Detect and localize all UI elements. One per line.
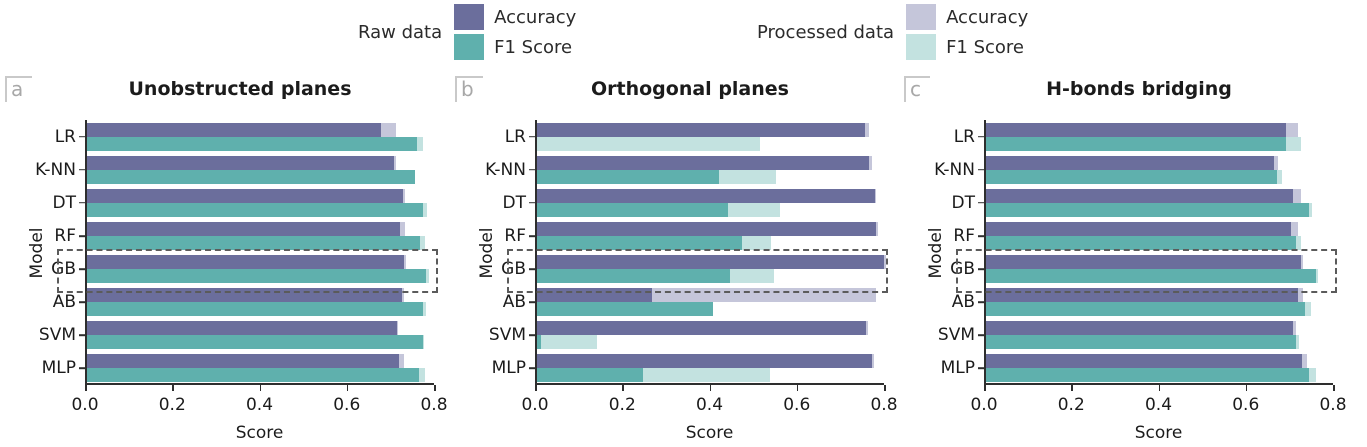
x-tick-label: 0.2	[609, 395, 636, 415]
bar-raw-accuracy-k-nn	[87, 156, 394, 170]
y-tick-label-mlp: MLP	[492, 358, 526, 378]
y-tick-label-k-nn: K-NN	[35, 160, 76, 180]
bar-raw-f1-dt	[986, 203, 1309, 217]
legend-group-raw-data: Raw data Accuracy F1 Score	[358, 4, 576, 60]
bar-raw-accuracy-gb	[986, 255, 1301, 269]
legend-keys-processed: Accuracy F1 Score	[906, 4, 1028, 60]
bar-raw-accuracy-rf	[537, 222, 876, 236]
bar-raw-accuracy-dt	[537, 189, 875, 203]
bar-raw-accuracy-mlp	[87, 354, 399, 368]
legend-item-raw-f1[interactable]: F1 Score	[454, 34, 576, 60]
y-tick-label-rf: RF	[504, 226, 526, 246]
y-tick-label-svm: SVM	[39, 325, 76, 345]
y-tick-label-lr: LR	[954, 127, 975, 147]
panel-tag-c: c	[904, 76, 930, 102]
bar-raw-f1-ab	[537, 302, 714, 316]
bar-raw-f1-k-nn	[986, 170, 1277, 184]
x-tick-mark	[1246, 385, 1248, 391]
bar-raw-f1-k-nn	[537, 170, 719, 184]
x-tick-label: 0.6	[1232, 395, 1259, 415]
panel-tag-a: a	[5, 76, 32, 102]
y-tick-label-rf: RF	[953, 226, 975, 246]
bar-raw-f1-mlp	[986, 368, 1309, 382]
x-tick-mark	[535, 385, 537, 391]
bar-raw-f1-gb	[986, 269, 1316, 283]
bar-raw-f1-mlp	[87, 368, 419, 382]
legend-item-processed-accuracy[interactable]: Accuracy	[906, 4, 1028, 30]
bar-processed-f1-svm	[537, 335, 597, 349]
bar-raw-accuracy-dt	[87, 189, 403, 203]
bar-processed-f1-lr	[537, 137, 760, 151]
y-tick-mark	[978, 169, 984, 171]
x-tick-mark	[172, 385, 174, 391]
x-tick-label: 0.6	[783, 395, 810, 415]
y-tick-mark	[529, 235, 535, 237]
y-tick-mark	[978, 268, 984, 270]
bar-raw-f1-mlp	[537, 368, 644, 382]
y-tick-mark	[529, 202, 535, 204]
y-tick-mark	[978, 202, 984, 204]
panel-title-a: Unobstructed planes	[40, 78, 440, 100]
y-axis-title: Model	[926, 223, 946, 283]
bar-raw-f1-k-nn	[87, 170, 415, 184]
x-tick-mark	[797, 385, 799, 391]
legend-group-label-raw: Raw data	[358, 22, 442, 43]
y-tick-mark	[79, 268, 85, 270]
x-axis-title: Score	[535, 423, 884, 443]
y-tick-mark	[529, 169, 535, 171]
panel-tag-b: b	[455, 76, 483, 102]
legend-keys-raw: Accuracy F1 Score	[454, 4, 576, 60]
legend-swatch-raw-accuracy	[454, 4, 484, 30]
y-tick-mark	[978, 368, 984, 370]
bar-raw-f1-dt	[537, 203, 728, 217]
legend-label-raw-accuracy: Accuracy	[494, 7, 576, 28]
y-tick-mark	[529, 301, 535, 303]
legend-label-raw-f1: F1 Score	[494, 37, 572, 58]
legend-swatch-raw-f1	[454, 34, 484, 60]
x-tick-mark	[260, 385, 262, 391]
x-tick-mark	[710, 385, 712, 391]
bar-raw-f1-gb	[537, 269, 730, 283]
x-tick-mark	[347, 385, 349, 391]
bar-raw-f1-ab	[87, 302, 423, 316]
y-tick-mark	[529, 268, 535, 270]
bar-raw-accuracy-ab	[537, 288, 653, 302]
y-tick-label-dt: DT	[53, 193, 76, 213]
x-tick-label: 0.8	[1319, 395, 1346, 415]
y-tick-label-ab: AB	[952, 292, 975, 312]
x-tick-label: 0.8	[420, 395, 447, 415]
bar-raw-accuracy-k-nn	[537, 156, 869, 170]
bar-raw-accuracy-lr	[986, 123, 1286, 137]
bar-raw-accuracy-gb	[537, 255, 884, 269]
y-tick-mark	[529, 136, 535, 138]
bar-raw-f1-gb	[87, 269, 426, 283]
legend-swatch-processed-accuracy	[906, 4, 936, 30]
x-tick-label: 0.0	[71, 395, 98, 415]
x-tick-label: 0.8	[870, 395, 897, 415]
x-tick-label: 0.4	[246, 395, 273, 415]
bar-raw-accuracy-dt	[986, 189, 1294, 203]
y-tick-label-rf: RF	[54, 226, 76, 246]
bar-raw-accuracy-ab	[986, 288, 1298, 302]
x-tick-mark	[622, 385, 624, 391]
x-tick-label: 0.4	[1145, 395, 1172, 415]
x-axis-title: Score	[85, 423, 434, 443]
x-tick-label: 0.6	[333, 395, 360, 415]
y-tick-label-gb: GB	[501, 259, 526, 279]
y-tick-mark	[529, 335, 535, 337]
x-tick-mark	[85, 385, 87, 391]
x-axis-title: Score	[984, 423, 1333, 443]
x-tick-label: 0.4	[696, 395, 723, 415]
bar-raw-f1-svm	[87, 335, 424, 349]
y-tick-label-gb: GB	[950, 259, 975, 279]
legend-label-processed-f1: F1 Score	[946, 37, 1024, 58]
bar-raw-f1-svm	[537, 335, 541, 349]
y-tick-label-k-nn: K-NN	[934, 160, 975, 180]
x-tick-label: 0.2	[159, 395, 186, 415]
bar-raw-f1-lr	[87, 137, 417, 151]
bar-raw-accuracy-mlp	[537, 354, 872, 368]
bar-raw-accuracy-svm	[986, 321, 1294, 335]
y-tick-mark	[978, 301, 984, 303]
bar-raw-accuracy-lr	[87, 123, 382, 137]
y-tick-mark	[529, 368, 535, 370]
x-tick-mark	[434, 385, 436, 391]
x-tick-mark	[1333, 385, 1335, 391]
y-tick-label-mlp: MLP	[941, 358, 975, 378]
bar-raw-f1-svm	[986, 335, 1296, 349]
plot-area-b: 0.00.20.40.60.8ScoreLRK-NNDTRFGBABSVMMLP	[535, 120, 884, 385]
y-axis-title: Model	[27, 223, 47, 283]
y-tick-label-lr: LR	[55, 127, 76, 147]
x-tick-label: 0.0	[521, 395, 548, 415]
x-tick-label: 0.0	[970, 395, 997, 415]
bar-raw-accuracy-k-nn	[986, 156, 1275, 170]
bar-raw-f1-lr	[986, 137, 1287, 151]
legend-item-raw-accuracy[interactable]: Accuracy	[454, 4, 576, 30]
bar-raw-accuracy-svm	[537, 321, 867, 335]
x-tick-mark	[1071, 385, 1073, 391]
panel-title-b: Orthogonal planes	[490, 78, 890, 100]
x-tick-mark	[984, 385, 986, 391]
y-tick-label-svm: SVM	[938, 325, 975, 345]
y-tick-mark	[79, 301, 85, 303]
y-tick-label-k-nn: K-NN	[485, 160, 526, 180]
y-tick-label-ab: AB	[503, 292, 526, 312]
x-tick-mark	[1159, 385, 1161, 391]
figure-root: Raw data Accuracy F1 Score Processed dat…	[0, 0, 1367, 447]
y-tick-mark	[978, 235, 984, 237]
y-tick-label-mlp: MLP	[42, 358, 76, 378]
y-tick-mark	[79, 235, 85, 237]
legend-group-label-processed: Processed data	[757, 22, 894, 43]
legend-group-processed-data: Processed data Accuracy F1 Score	[757, 4, 1028, 60]
bar-raw-f1-rf	[986, 236, 1296, 250]
y-tick-mark	[978, 335, 984, 337]
legend-item-processed-f1[interactable]: F1 Score	[906, 34, 1028, 60]
bar-raw-accuracy-lr	[537, 123, 865, 137]
y-tick-mark	[978, 136, 984, 138]
y-axis-title: Model	[477, 223, 497, 283]
y-tick-mark	[79, 136, 85, 138]
bar-raw-f1-dt	[87, 203, 423, 217]
y-tick-label-dt: DT	[503, 193, 526, 213]
y-tick-mark	[79, 169, 85, 171]
y-tick-mark	[79, 368, 85, 370]
plot-area-c: 0.00.20.40.60.8ScoreLRK-NNDTRFGBABSVMMLP	[984, 120, 1333, 385]
bar-raw-accuracy-rf	[87, 222, 400, 236]
y-tick-label-svm: SVM	[489, 325, 526, 345]
panel-title-c: H-bonds bridging	[939, 78, 1339, 100]
bar-raw-accuracy-ab	[87, 288, 402, 302]
legend-label-processed-accuracy: Accuracy	[946, 7, 1028, 28]
bar-raw-f1-rf	[87, 236, 420, 250]
y-tick-label-dt: DT	[952, 193, 975, 213]
bar-raw-accuracy-gb	[87, 255, 404, 269]
y-tick-label-ab: AB	[53, 292, 76, 312]
y-tick-label-lr: LR	[505, 127, 526, 147]
bar-raw-accuracy-rf	[986, 222, 1291, 236]
x-tick-label: 0.2	[1058, 395, 1085, 415]
y-tick-mark	[79, 335, 85, 337]
bar-raw-f1-rf	[537, 236, 742, 250]
x-tick-mark	[884, 385, 886, 391]
y-tick-mark	[79, 202, 85, 204]
legend-swatch-processed-f1	[906, 34, 936, 60]
bar-raw-accuracy-svm	[87, 321, 398, 335]
bar-raw-f1-ab	[986, 302, 1305, 316]
plot-area-a: 0.00.20.40.60.8ScoreLRK-NNDTRFGBABSVMMLP	[85, 120, 434, 385]
y-tick-label-gb: GB	[51, 259, 76, 279]
bar-raw-accuracy-mlp	[986, 354, 1302, 368]
